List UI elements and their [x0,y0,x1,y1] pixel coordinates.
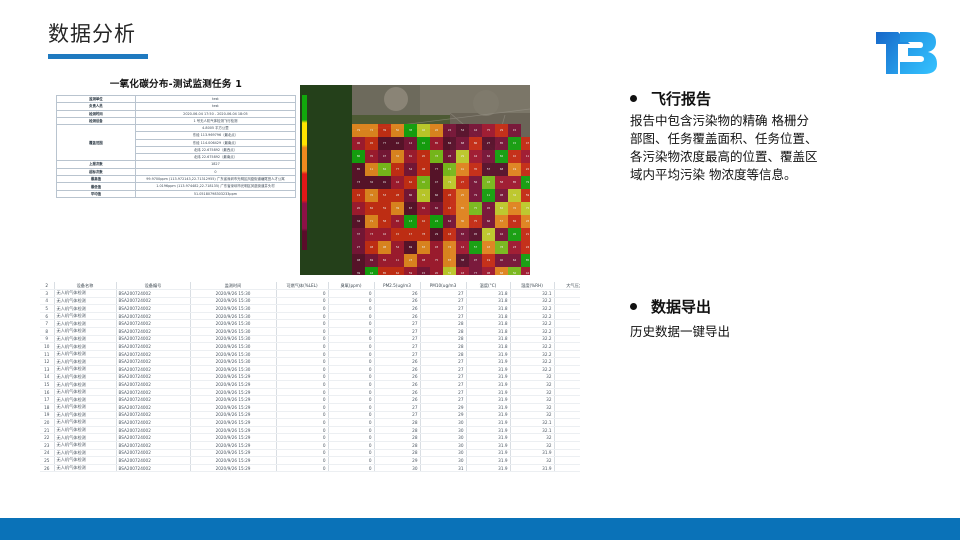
grid-cell: 15 [391,228,404,241]
grid-cell: 19 [482,254,495,267]
bullet-dot-icon [630,303,637,310]
cell-pm25: 28 [374,426,420,434]
cell-index: 14 [40,373,54,381]
grid-cell: 42 [417,215,430,228]
grid-cell: 29 [495,124,508,137]
cell-pm25: 26 [374,381,420,389]
cell-device-sn: BSA200724002 [116,366,190,374]
grid-cell: 78 [495,241,508,254]
cell-pm10: 28 [420,343,466,351]
cell-pressure: 79.54 [554,290,580,298]
cell-pressure: 79.536 [554,350,580,358]
cell-ozone: 0 [328,434,374,442]
cell-humidity: 32 [510,457,554,465]
cell-pm10: 30 [420,426,466,434]
col-monitor-time: 监测时间 [190,282,276,290]
table-row[interactable]: 24无人机气体检测BSA2007240022020/9/26 15:290028… [40,449,580,457]
grid-cell: 42 [495,228,508,241]
col-humidity: 湿度(%RH) [510,282,554,290]
cell-ozone: 0 [328,358,374,366]
cell-temperature: 31.8 [466,320,510,328]
table-row[interactable]: 10无人机气体检测BSA2007240022020/9/26 15:300027… [40,343,580,351]
cell-pressure: 79.529 [554,358,580,366]
cell-humidity: 32.2 [510,343,554,351]
cell-humidity: 32.1 [510,426,554,434]
report-table: 监测单位 test 负责人员 test 检测时间 2020-06-04 17:5… [56,95,296,198]
col-device-name: 设备名称 [54,282,116,290]
table-row[interactable]: 15无人机气体检测BSA2007240022020/9/26 15:290026… [40,381,580,389]
cell-temperature: 31.9 [466,457,510,465]
grid-cell: 75 [482,124,495,137]
cell-lel: 0 [276,305,328,313]
avg-value: 51.05180798303233ppm [135,190,295,197]
cell-monitor-time: 2020/9/26 15:30 [190,335,276,343]
grid-cell: 87 [443,254,456,267]
cell-humidity: 32.2 [510,320,554,328]
cell-device-name: 无人机气体检测 [54,373,116,381]
cell-device-name: 无人机气体检测 [54,297,116,305]
table-row[interactable]: 11无人机气体检测BSA2007240022020/9/26 15:300027… [40,350,580,358]
grid-cell: 77 [378,137,391,150]
grid-cell: 98 [482,267,495,275]
cell-pm25: 26 [374,312,420,320]
cell-ozone: 0 [328,388,374,396]
cell-pm10: 30 [420,457,466,465]
grid-cell: 84 [378,254,391,267]
table-row[interactable]: 21无人机气体检测BSA2007240022020/9/26 15:290028… [40,426,580,434]
grid-cell: 68 [495,267,508,275]
cell-ozone: 0 [328,396,374,404]
grid-cell: 82 [508,215,521,228]
table-header-row: 2 设备名称 设备编号 监测时间 可燃气体(%LEL) 臭氧(ppm) PM2.… [40,282,580,290]
report-row-value: 1 号无人机气体检测飞行检测 [135,117,295,124]
cell-temperature: 31.9 [466,441,510,449]
grid-cell: 48 [365,241,378,254]
cell-index: 12 [40,358,54,366]
grid-cell: 69 [417,202,430,215]
coverage-value: 北纬 22.675892（最西点） [135,146,295,153]
grid-cell: 45 [482,202,495,215]
grid-cell: 76 [508,202,521,215]
cell-pressure: 79.522 [554,396,580,404]
grid-cell: 26 [430,124,443,137]
table-row[interactable]: 26无人机气体检测BSA2007240022020/9/26 15:290030… [40,464,580,472]
cell-lel: 0 [276,350,328,358]
report-row-label: 监测单位 [57,96,136,103]
table-row[interactable]: 22无人机气体检测BSA2007240022020/9/26 15:290028… [40,434,580,442]
coverage-value: 东经 114.006429（最南点） [135,139,295,146]
cell-monitor-time: 2020/9/26 15:30 [190,320,276,328]
cell-pressure: 79.533 [554,320,580,328]
cell-monitor-time: 2020/9/26 15:29 [190,373,276,381]
grid-cell: 44 [469,150,482,163]
cell-pm10: 31 [420,464,466,472]
table-row: 检测设备 1 号无人机气体检测飞行检测 [57,117,296,124]
cell-pm10: 27 [420,297,466,305]
cell-index: 17 [40,396,54,404]
grid-cell: 39 [391,202,404,215]
cell-ozone: 0 [328,404,374,412]
grid-cell: 15 [508,124,521,137]
grid-cell: 77 [391,163,404,176]
cell-pressure: 79.526 [554,419,580,427]
grid-cell: 64 [443,215,456,228]
cell-device-sn: BSA200724002 [116,441,190,449]
cell-monitor-time: 2020/9/26 15:29 [190,464,276,472]
cell-pressure: 79.536 [554,441,580,449]
page-title: 数据分析 [48,18,136,48]
grid-cell: 85 [378,267,391,275]
grid-cell: 42 [378,228,391,241]
table-row[interactable]: 23无人机气体检测BSA2007240022020/9/26 15:290028… [40,441,580,449]
cell-device-name: 无人机气体检测 [54,328,116,336]
data-table: 2 设备名称 设备编号 监测时间 可燃气体(%LEL) 臭氧(ppm) PM2.… [40,282,580,472]
grid-cell: 26 [508,228,521,241]
grid-cell: 46 [417,124,430,137]
cell-pm25: 26 [374,366,420,374]
grid-cell: 22 [443,124,456,137]
cell-pressure: 79.544 [554,373,580,381]
table-row[interactable]: 18无人机气体检测BSA2007240022020/9/26 15:290027… [40,404,580,412]
cell-pm10: 27 [420,366,466,374]
report-row-label: 超标次数 [57,168,136,175]
cell-index: 6 [40,312,54,320]
grid-cell: 20 [417,150,430,163]
grid-cell: 75 [521,202,530,215]
cell-pm25: 27 [374,411,420,419]
rb-logo-icon [870,26,942,80]
table-row[interactable]: 3无人机气体检测BSA2007240022020/9/26 15:3000262… [40,290,580,298]
cell-temperature: 31.9 [466,404,510,412]
cell-pm10: 27 [420,358,466,366]
grid-cell: 72 [365,124,378,137]
report-row-label: 检测设备 [57,117,136,124]
grid-cell: 27 [456,176,469,189]
cell-device-sn: BSA200724002 [116,290,190,298]
cell-humidity: 32 [510,434,554,442]
grid-cell: 54 [391,241,404,254]
cell-pm10: 29 [420,411,466,419]
grid-cell: 38 [404,124,417,137]
col-pressure: 大气压力(hPa) [554,282,580,290]
grid-cell: 41 [456,163,469,176]
grid-cell: 62 [404,176,417,189]
grid-cell: 15 [417,267,430,275]
cell-pressure: 79.535 [554,404,580,412]
grid-cell: 35 [469,163,482,176]
grid-cell: 11 [521,150,530,163]
table-row[interactable]: 19无人机气体检测BSA2007240022020/9/26 15:290027… [40,411,580,419]
coverage-value: 东经 113.969796（最北点） [135,132,295,139]
cell-humidity: 32 [510,373,554,381]
cell-lel: 0 [276,290,328,298]
cell-temperature: 31.9 [466,366,510,374]
table-row[interactable]: 8无人机气体检测BSA2007240022020/9/26 15:3000272… [40,328,580,336]
flight-report-card: 一氧化碳分布-测试监测任务 1 监测单位 test 负责人员 test 检测时间… [56,72,296,272]
table-row[interactable]: 6无人机气体检测BSA2007240022020/9/26 15:3000262… [40,312,580,320]
cell-lel: 0 [276,441,328,449]
grid-cell: 59 [404,267,417,275]
cell-ozone: 0 [328,312,374,320]
grid-cell: 85 [430,137,443,150]
col-lel: 可燃气体(%LEL) [276,282,328,290]
cell-lel: 0 [276,343,328,351]
grid-cell: 28 [521,215,530,228]
grid-cell: 59 [521,189,530,202]
grid-cell: 86 [352,150,365,163]
cell-monitor-time: 2020/9/26 15:30 [190,290,276,298]
cell-monitor-time: 2020/9/26 15:29 [190,396,276,404]
max-value: 99.9700ppm (113.972143,22.71312955) 广东省深… [135,175,295,183]
grid-cell: 23 [404,254,417,267]
cell-monitor-time: 2020/9/26 15:29 [190,441,276,449]
cell-lel: 0 [276,312,328,320]
cell-temperature: 31.8 [466,290,510,298]
grid-cell: 44 [365,267,378,275]
coverage-value: 4.8005 平方公里 [135,125,295,132]
cell-index: 3 [40,290,54,298]
cell-humidity: 31.9 [510,449,554,457]
table-row[interactable]: 25无人机气体检测BSA2007240022020/9/26 15:290029… [40,457,580,465]
cell-pm25: 27 [374,350,420,358]
grid-cell: 84 [443,137,456,150]
grid-cell: 40 [495,254,508,267]
table-row[interactable]: 17无人机气体检测BSA2007240022020/9/26 15:290026… [40,396,580,404]
cell-pm25: 26 [374,305,420,313]
cell-pm25: 26 [374,358,420,366]
cell-pm25: 26 [374,373,420,381]
grid-cell: 58 [495,176,508,189]
grid-cell: 34 [352,215,365,228]
grid-cell: 11 [365,163,378,176]
bullet-heading: 数据导出 [630,296,930,317]
slide-root: 数据分析 一氧化碳分布-测试监测任务 1 监测单位 test 负责人员 [0,0,960,540]
grid-cell: 11 [391,254,404,267]
cell-lel: 0 [276,297,328,305]
cell-index: 25 [40,457,54,465]
cell-monitor-time: 2020/9/26 15:29 [190,434,276,442]
cell-pm10: 27 [420,290,466,298]
cell-temperature: 31.8 [466,305,510,313]
cell-humidity: 32 [510,388,554,396]
cell-pm10: 27 [420,388,466,396]
cell-humidity: 32.2 [510,335,554,343]
grid-cell: 50 [391,124,404,137]
cell-ozone: 0 [328,449,374,457]
table-row: 负责人员 test [57,103,296,110]
grid-cell: 57 [469,241,482,254]
grid-cell: 47 [378,150,391,163]
cell-humidity: 32 [510,396,554,404]
grid-cell: 85 [495,137,508,150]
cell-humidity: 32.2 [510,305,554,313]
cell-lel: 0 [276,434,328,442]
cell-index: 10 [40,343,54,351]
cell-temperature: 31.9 [466,426,510,434]
cell-monitor-time: 2020/9/26 15:30 [190,312,276,320]
grid-cell: 65 [391,215,404,228]
table-row: 超标次数 0 [57,168,296,175]
report-row-value: test [135,103,295,110]
cell-pm25: 26 [374,290,420,298]
grid-cell: 68 [456,137,469,150]
grid-cell: 28 [391,189,404,202]
cell-temperature: 31.9 [466,411,510,419]
bullet-data-export: 数据导出 历史数据一键导出 [630,296,930,340]
cell-device-name: 无人机气体检测 [54,388,116,396]
cell-humidity: 32 [510,411,554,419]
cell-pm10: 27 [420,396,466,404]
grid-cell: 10 [391,137,404,150]
cell-lel: 0 [276,411,328,419]
cell-index: 23 [40,441,54,449]
table-row: 监测单位 test [57,96,296,103]
cell-device-sn: BSA200724002 [116,350,190,358]
grid-cell: 29 [456,150,469,163]
cell-lel: 0 [276,396,328,404]
cell-ozone: 0 [328,373,374,381]
grid-cell: 79 [443,176,456,189]
cell-index: 22 [40,434,54,442]
cell-temperature: 31.9 [466,396,510,404]
cell-pm25: 28 [374,441,420,449]
cell-device-sn: BSA200724002 [116,328,190,336]
table-row[interactable]: 14无人机气体检测BSA2007240022020/9/26 15:290026… [40,373,580,381]
grid-cell: 23 [508,241,521,254]
table-row: 上报次数 1827 [57,161,296,168]
cell-humidity: 32 [510,381,554,389]
pollution-grid-map: 7972395038462622544475291596457710121085… [300,85,530,275]
table-row[interactable]: 12无人机气体检测BSA2007240022020/9/26 15:300026… [40,358,580,366]
max-value-label: 最高值 [57,175,136,183]
table-row: 平均值 51.05180798303233ppm [57,190,296,197]
cell-humidity: 32.1 [510,290,554,298]
cell-device-sn: BSA200724002 [116,404,190,412]
grid-cell: 30 [456,215,469,228]
concentration-legend [302,95,307,250]
bullet-flight-report: 飞行报告 报告中包含污染物的精确 格栅分部图、任务覆盖面积、任务位置、各污染物浓… [630,88,930,185]
grid-cell: 73 [365,228,378,241]
grid-cell: 93 [430,241,443,254]
grid-cell: 38 [456,254,469,267]
cell-pm25: 27 [374,404,420,412]
grid-cell: 58 [378,215,391,228]
cell-pressure: 79.544 [554,305,580,313]
cell-monitor-time: 2020/9/26 15:29 [190,426,276,434]
cell-pm25: 26 [374,388,420,396]
grid-cell: 28 [443,189,456,202]
grid-cell: 66 [482,215,495,228]
grid-cell: 56 [508,267,521,275]
grid-cell: 62 [482,150,495,163]
cell-pm25: 30 [374,464,420,472]
col-pm10: PM10(ug/m3 [420,282,466,290]
cell-index: 15 [40,381,54,389]
cell-device-name: 无人机气体检测 [54,396,116,404]
grid-cell: 64 [508,254,521,267]
cell-pm25: 29 [374,457,420,465]
report-row-value: 0 [135,168,295,175]
table-row[interactable]: 5无人机气体检测BSA2007240022020/9/26 15:3000262… [40,305,580,313]
cell-pressure: 79.531 [554,381,580,389]
grid-cell: 19 [508,163,521,176]
grid-cell: 11 [482,189,495,202]
grid-cell: 45 [469,228,482,241]
cell-humidity: 32.2 [510,358,554,366]
grid-cell: 75 [430,254,443,267]
cell-device-name: 无人机气体检测 [54,305,116,313]
grid-cell: 97 [469,254,482,267]
cell-temperature: 31.9 [466,388,510,396]
cell-device-name: 无人机气体检测 [54,366,116,374]
table-row[interactable]: 9无人机气体检测BSA2007240022020/9/26 15:3000272… [40,335,580,343]
grid-cell: 10 [508,150,521,163]
cell-device-name: 无人机气体检测 [54,320,116,328]
cell-device-sn: BSA200724002 [116,320,190,328]
table-row[interactable]: 16无人机气体检测BSA2007240022020/9/26 15:290026… [40,388,580,396]
grid-cell: 78 [417,228,430,241]
cell-pm25: 27 [374,335,420,343]
grid-cell: 82 [365,202,378,215]
grid-cell: 47 [430,176,443,189]
cell-humidity: 32 [510,441,554,449]
grid-cell: 10 [417,137,430,150]
cell-ozone: 0 [328,290,374,298]
cell-index: 8 [40,328,54,336]
cell-device-name: 无人机气体检测 [54,457,116,465]
grid-cell: 43 [482,241,495,254]
cell-pm25: 26 [374,297,420,305]
grid-cell: 83 [417,241,430,254]
grid-cell: 15 [443,163,456,176]
cell-lel: 0 [276,449,328,457]
cell-monitor-time: 2020/9/26 15:29 [190,381,276,389]
cell-monitor-time: 2020/9/26 15:30 [190,366,276,374]
cell-temperature: 31.9 [466,434,510,442]
table-row[interactable]: 7无人机气体检测BSA2007240022020/9/26 15:3000272… [40,320,580,328]
cell-device-name: 无人机气体检测 [54,464,116,472]
grid-cell: 69 [404,241,417,254]
history-data-sheet[interactable]: 2 设备名称 设备编号 监测时间 可燃气体(%LEL) 臭氧(ppm) PM2.… [40,282,580,478]
report-row-value: 1827 [135,161,295,168]
table-row[interactable]: 4无人机气体检测BSA2007240022020/9/26 15:3000262… [40,297,580,305]
cell-pressure: 79.529 [554,449,580,457]
table-row: 最高值 99.9700ppm (113.972143,22.71312955) … [57,175,296,183]
cell-device-name: 无人机气体检测 [54,434,116,442]
grid-cell: 85 [352,163,365,176]
grid-cell: 39 [352,267,365,275]
col-device-sn: 设备编号 [116,282,190,290]
cell-humidity: 32.2 [510,297,554,305]
grid-cell: 77 [430,163,443,176]
cell-pm25: 27 [374,328,420,336]
cell-humidity: 32.2 [510,312,554,320]
table-row[interactable]: 13无人机气体检测BSA2007240022020/9/26 15:300026… [40,366,580,374]
grid-cell: 27 [482,137,495,150]
grid-cell: 19 [352,189,365,202]
table-row[interactable]: 20无人机气体检测BSA2007240022020/9/26 15:290028… [40,419,580,427]
grid-cell: 91 [378,176,391,189]
footer-bar [0,518,960,540]
col-temperature: 温度(°C) [466,282,510,290]
cell-device-sn: BSA200724002 [116,396,190,404]
cell-index: 7 [40,320,54,328]
cell-device-sn: BSA200724002 [116,305,190,313]
grid-cell: 15 [508,137,521,150]
grid-cell: 86 [469,137,482,150]
cell-ozone: 0 [328,426,374,434]
cell-device-name: 无人机气体检测 [54,441,116,449]
